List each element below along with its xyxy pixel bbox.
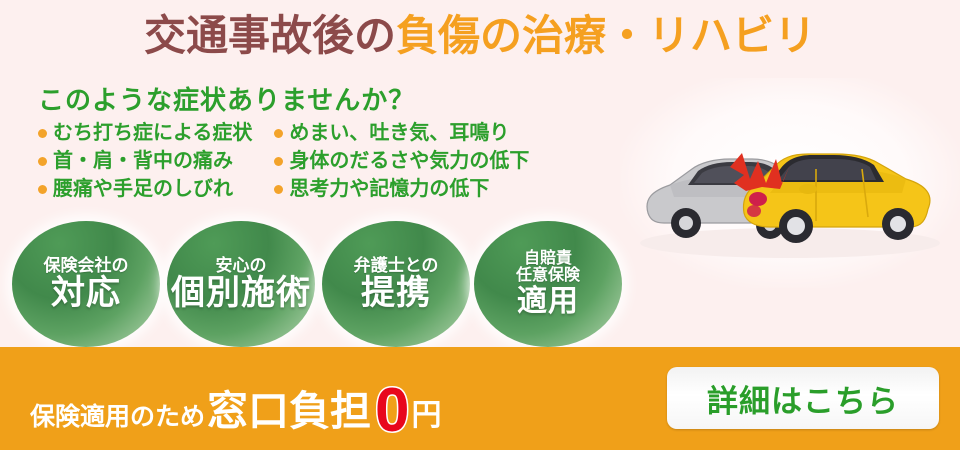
bullet-dot-icon [274, 157, 283, 166]
symptoms-list: むち打ち症による症状 首・肩・背中の痛み 腰痛や手足のしびれ めまい、吐き気、耳… [38, 120, 529, 202]
list-item: 思考力や記憶力の低下 [274, 176, 529, 202]
feature-circle-sublabel: 安心の [216, 257, 267, 275]
feature-circles: 保険会社の 対応 安心の 個別施術 弁護士との 提携 自賠責 任意保険 適用 [12, 221, 632, 349]
banner-title: 交通事故後の負傷の治療・リハビリ [0, 12, 960, 60]
list-item-label: 身体のだるさや気力の低下 [289, 148, 529, 174]
details-cta-button[interactable]: 詳細はこちら [667, 367, 939, 429]
feature-circle-sublabel: 保険会社の [44, 257, 129, 275]
list-item-label: めまい、吐き気、耳鳴り [289, 120, 509, 146]
cost-main-label: 窓口負担 [207, 377, 371, 437]
promo-banner: 交通事故後の負傷の治療・リハビリ このような症状ありませんか？ むち打ち症による… [0, 0, 960, 450]
banner-title-primary: 交通事故後の [144, 12, 396, 59]
car-collision-photo [630, 125, 950, 260]
feature-circle-label: 提携 [361, 276, 431, 312]
symptoms-column-right: めまい、吐き気、耳鳴り 身体のだるさや気力の低下 思考力や記憶力の低下 [274, 120, 529, 202]
feature-circle-label: 個別施術 [171, 276, 311, 312]
cost-amount-value: 0 [375, 380, 409, 442]
banner-title-accent: 負傷の治療・リハビリ [396, 12, 816, 59]
bullet-dot-icon [274, 185, 283, 194]
list-item: 首・肩・背中の痛み [38, 148, 252, 174]
list-item-label: 思考力や記憶力の低下 [289, 176, 489, 202]
cost-currency-unit: 円 [412, 390, 442, 434]
list-item: 腰痛や手足のしびれ [38, 176, 252, 202]
bullet-dot-icon [38, 129, 47, 138]
bullet-dot-icon [38, 185, 47, 194]
list-item: めまい、吐き気、耳鳴り [274, 120, 529, 146]
list-item-label: 首・肩・背中の痛み [53, 148, 233, 174]
list-item-label: むち打ち症による症状 [53, 120, 252, 146]
list-item-label: 腰痛や手足のしびれ [53, 176, 233, 202]
feature-circle-individual-treatment: 安心の 個別施術 [167, 221, 315, 347]
feature-circle-label: 対応 [51, 276, 121, 312]
feature-circle-insurance-applicable: 自賠責 任意保険 適用 [474, 221, 622, 347]
bullet-dot-icon [38, 157, 47, 166]
details-cta-label: 詳細はこちら [707, 376, 899, 421]
feature-circle-sublabel: 弁護士との [354, 257, 439, 275]
feature-circle-sublabel: 自賠責 [524, 251, 572, 268]
list-item: むち打ち症による症状 [38, 120, 252, 146]
symptoms-column-left: むち打ち症による症状 首・肩・背中の痛み 腰痛や手足のしびれ [38, 120, 252, 202]
cost-prefix-label: 保険適用のため [30, 397, 205, 433]
feature-circle-insurance-response: 保険会社の 対応 [12, 221, 160, 347]
cost-statement: 保険適用のため 窓口負担 0 円 [30, 374, 442, 437]
symptoms-question-heading: このような症状ありませんか？ [38, 80, 415, 117]
list-item: 身体のだるさや気力の低下 [274, 148, 529, 174]
bullet-dot-icon [274, 129, 283, 138]
feature-circle-sublabel-secondary: 任意保険 [516, 268, 580, 285]
car-collision-icon [630, 125, 950, 260]
feature-circle-label: 適用 [517, 286, 579, 318]
feature-circle-lawyer-partnership: 弁護士との 提携 [322, 221, 470, 347]
